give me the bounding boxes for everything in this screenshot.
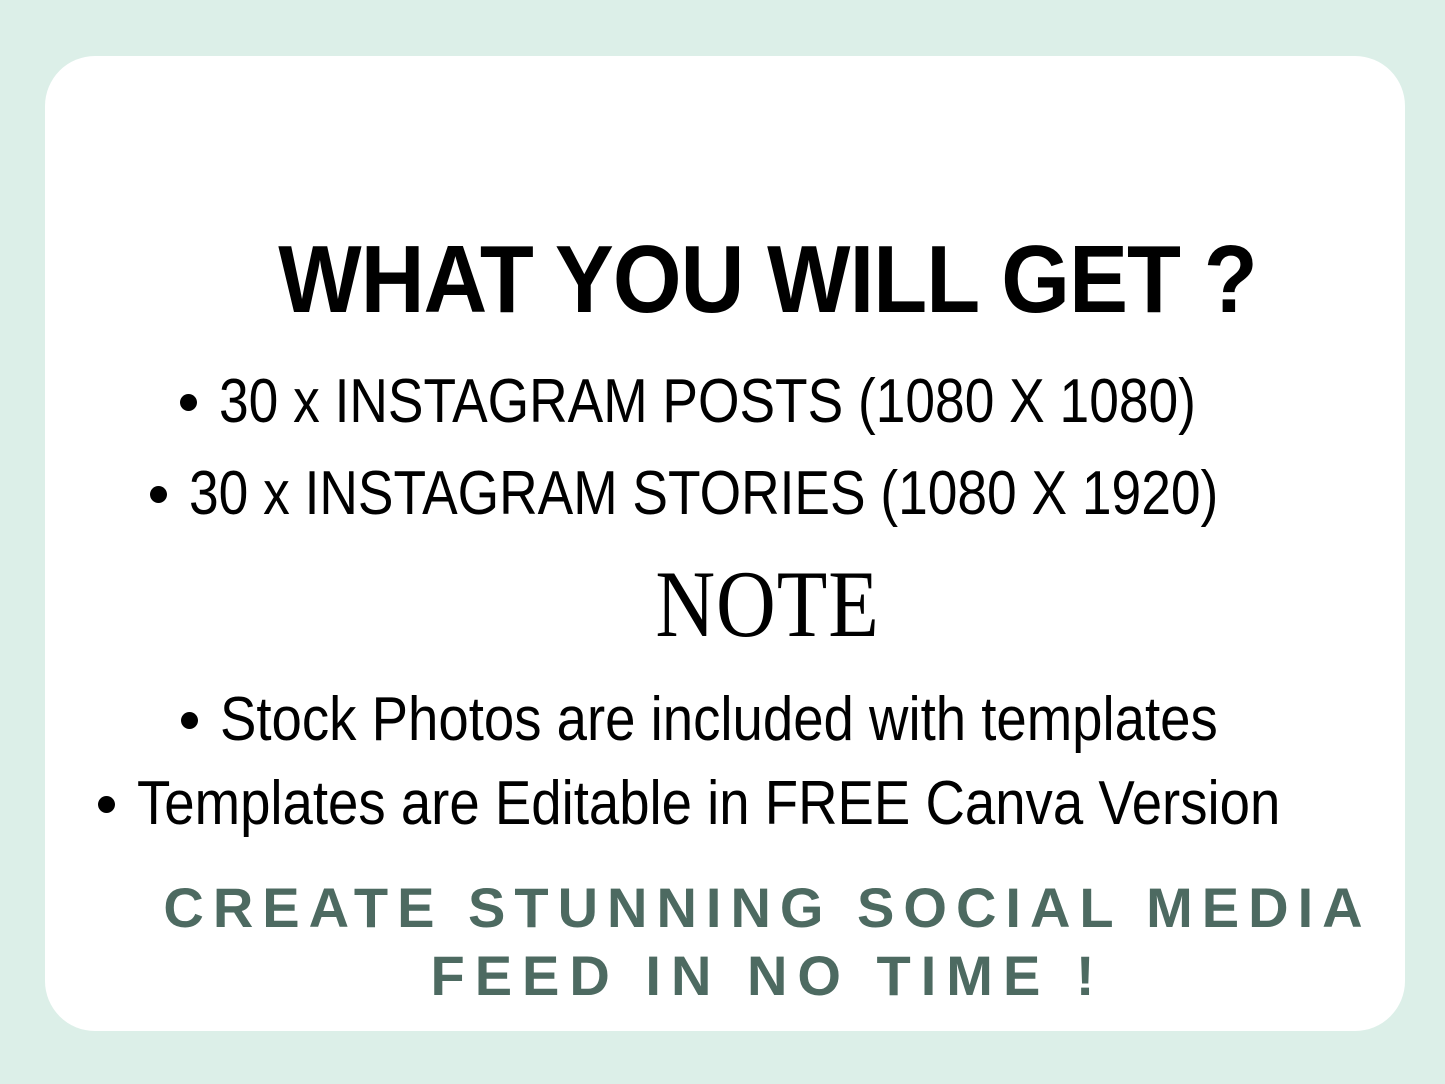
note-list: Stock Photos are included with templates…	[45, 678, 1445, 846]
tagline-line-1: CREATE STUNNING SOCIAL MEDIA	[45, 874, 1445, 942]
tagline-block: CREATE STUNNING SOCIAL MEDIA FEED IN NO …	[45, 874, 1445, 1010]
list-item: Templates are Editable in FREE Canva Ver…	[45, 762, 1445, 846]
offer-list: 30 x INSTAGRAM POSTS (1080 X 1080) 30 x …	[45, 356, 1445, 540]
bullet-icon	[98, 796, 115, 813]
list-item: 30 x INSTAGRAM STORIES (1080 X 1920)	[45, 448, 1445, 540]
page-title: WHAT YOU WILL GET ?	[103, 232, 1432, 328]
offer-item-label: 30 x INSTAGRAM POSTS (1080 X 1080)	[219, 371, 1196, 433]
content-card: WHAT YOU WILL GET ? 30 x INSTAGRAM POSTS…	[45, 56, 1405, 1031]
slide-canvas: WHAT YOU WILL GET ? 30 x INSTAGRAM POSTS…	[0, 0, 1445, 1084]
offer-row: 30 x INSTAGRAM POSTS (1080 X 1080)	[180, 371, 1355, 433]
note-row: Templates are Editable in FREE Canva Ver…	[98, 773, 1436, 835]
offer-row: 30 x INSTAGRAM STORIES (1080 X 1920)	[150, 463, 1386, 525]
bullet-icon	[150, 486, 167, 503]
list-item: Stock Photos are included with templates	[45, 678, 1445, 762]
bullet-icon	[180, 394, 197, 411]
list-item: 30 x INSTAGRAM POSTS (1080 X 1080)	[45, 356, 1445, 448]
note-item-label: Templates are Editable in FREE Canva Ver…	[137, 773, 1280, 835]
offer-item-label: 30 x INSTAGRAM STORIES (1080 X 1920)	[189, 463, 1218, 525]
bullet-icon	[181, 712, 198, 729]
note-row: Stock Photos are included with templates	[181, 689, 1354, 751]
tagline-line-2: FEED IN NO TIME !	[45, 942, 1445, 1010]
note-item-label: Stock Photos are included with templates	[220, 689, 1218, 751]
note-heading: NOTE	[117, 556, 1418, 652]
